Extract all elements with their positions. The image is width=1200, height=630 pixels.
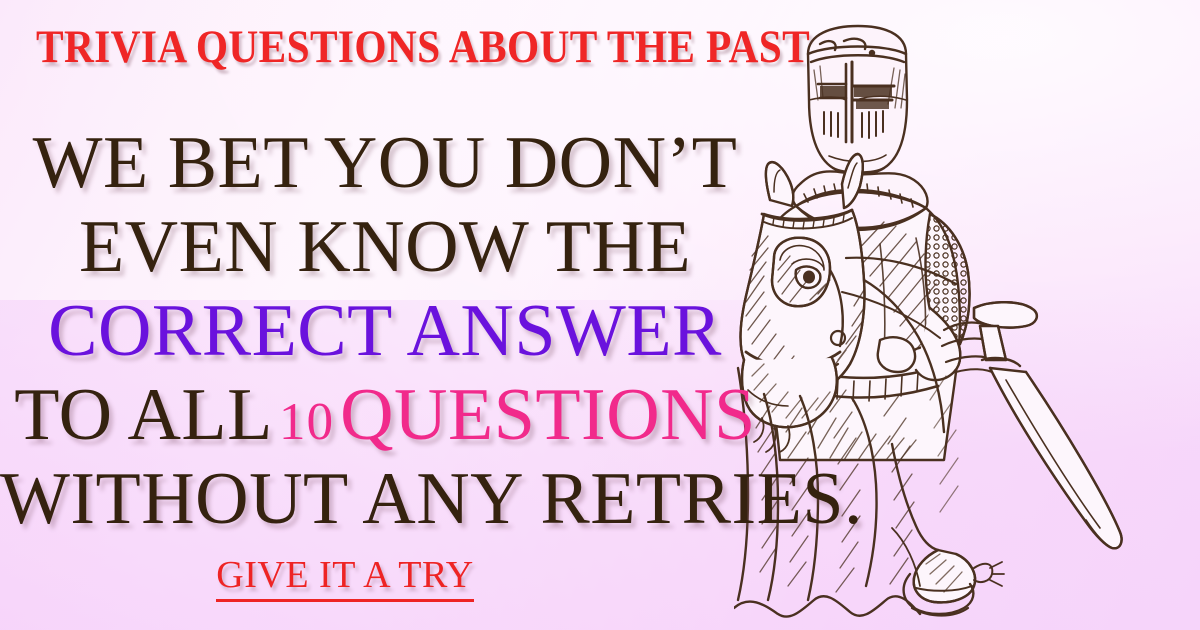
headline-line-1: WE BET YOU DON’T (0, 126, 770, 200)
headline-line-4-prefix: TO ALL (14, 374, 273, 456)
question-count: 10 (273, 392, 340, 451)
trivia-promo-poster: TRIVIA QUESTIONS ABOUT THE PAST WE BET Y… (0, 0, 1200, 630)
cta-container: GIVE IT A TRY (0, 556, 690, 602)
headline-line-3-correct-answer: CORRECT ANSWER (0, 294, 770, 368)
stirrup-boot-icon (892, 444, 1004, 616)
headline-line-2: EVEN KNOW THE (0, 210, 770, 284)
headline-line-5: WITHOUT ANY RETRIES. (0, 462, 770, 536)
sword-icon (974, 302, 1122, 548)
give-it-a-try-link[interactable]: GIVE IT A TRY (216, 556, 473, 602)
headline-line-4: TO ALL10QUESTIONS (0, 378, 770, 452)
poster-kicker: TRIVIA QUESTIONS ABOUT THE PAST (36, 24, 828, 71)
poster-headline: WE BET YOU DON’T EVEN KNOW THE CORRECT A… (0, 126, 770, 536)
headline-line-4-suffix: QUESTIONS (340, 374, 756, 456)
